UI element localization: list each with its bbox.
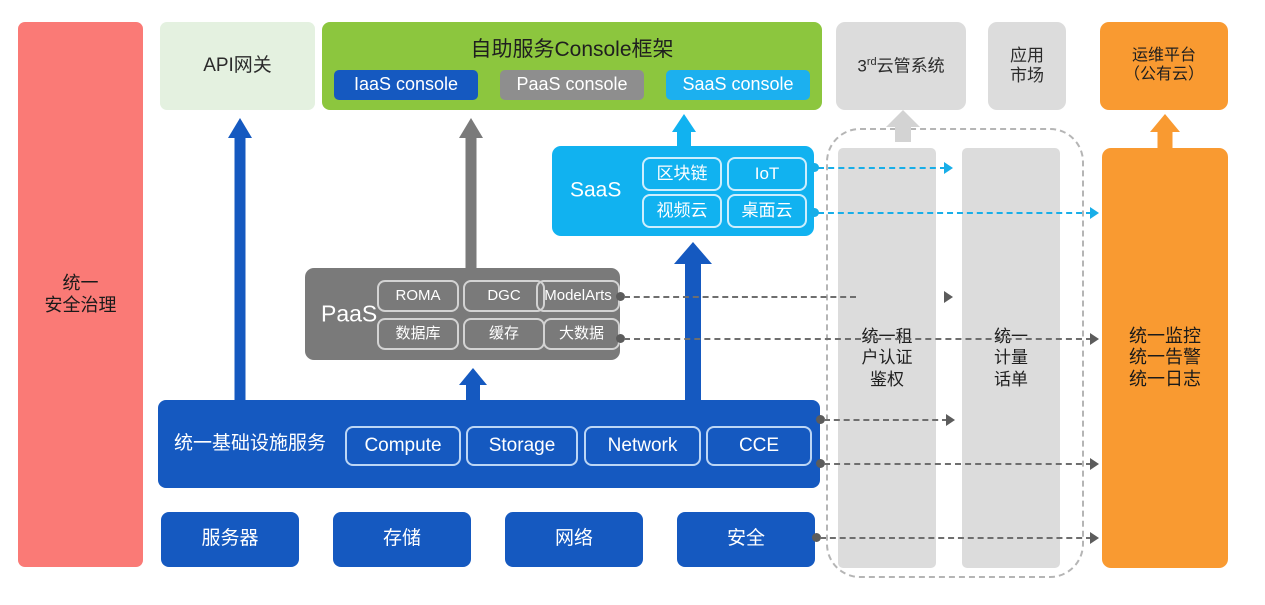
iaas-console-label: IaaS console — [354, 74, 458, 95]
infra-chip-network-label: Network — [608, 435, 678, 457]
ops-platform-top-label: 运维平台 （公有云） — [1124, 47, 1204, 85]
third-party-label: 3rd云管系统 — [857, 56, 944, 77]
resource-box-storage[interactable]: 存储 — [333, 512, 471, 567]
tenant-auth-line-1: 统一租 — [862, 326, 913, 347]
saas-label: SaaS — [570, 179, 621, 204]
paas-chip-dgc[interactable]: DGC — [463, 280, 545, 312]
dash-saas-to-tenant-auth — [818, 167, 946, 169]
tenant-auth-line-3: 鉴权 — [862, 369, 913, 390]
paas-block[interactable]: PaaS ROMA DGC ModelArts 数据库 缓存 大数据 — [305, 268, 620, 360]
resource-security-label: 安全 — [727, 528, 765, 550]
api-gateway-label: API网关 — [203, 55, 272, 77]
unified-metering-billing-label: 统一 计量 话单 — [994, 326, 1028, 390]
security-line-2: 安全治理 — [45, 295, 117, 316]
paas-chip-database[interactable]: 数据库 — [377, 318, 459, 350]
infra-chip-cce[interactable]: CCE — [706, 426, 812, 466]
saas-chip-video-cloud[interactable]: 视频云 — [642, 194, 722, 228]
unified-tenant-auth-column[interactable]: 统一租 户认证 鉴权 — [838, 148, 936, 568]
third-party-prefix: 3 — [857, 56, 866, 75]
arrow-ops-column-to-ops-platform — [1148, 114, 1182, 148]
unified-metering-billing-column[interactable]: 统一 计量 话单 — [962, 148, 1060, 568]
dash-arrow-saas-to-tenant-auth — [944, 162, 953, 174]
metering-line-1: 统一 — [994, 326, 1028, 347]
paas-chip-bigdata[interactable]: 大数据 — [543, 318, 620, 350]
paas-chip-cache[interactable]: 缓存 — [463, 318, 545, 350]
console-framework-title: 自助服务Console框架 — [322, 38, 822, 63]
saas-chip-desktop-cloud-label: 桌面云 — [742, 201, 793, 221]
infra-chip-storage[interactable]: Storage — [466, 426, 578, 466]
saas-chip-iot-label: IoT — [755, 164, 780, 184]
iaas-console-chip[interactable]: IaaS console — [334, 70, 478, 100]
arrow-shared-to-third-party — [886, 110, 920, 142]
infra-chip-storage-label: Storage — [489, 435, 556, 457]
paas-chip-roma[interactable]: ROMA — [377, 280, 459, 312]
paas-chip-bigdata-label: 大数据 — [559, 325, 604, 343]
dash-saas-to-ops — [818, 212, 1092, 214]
api-gateway-box[interactable]: API网关 — [160, 22, 315, 110]
saas-console-chip[interactable]: SaaS console — [666, 70, 810, 100]
saas-chip-desktop-cloud[interactable]: 桌面云 — [727, 194, 807, 228]
paas-chip-database-label: 数据库 — [395, 325, 440, 343]
third-party-cloud-mgmt-box[interactable]: 3rd云管系统 — [836, 22, 966, 110]
tenant-auth-line-2: 户认证 — [862, 347, 913, 368]
arrow-paas-to-console — [455, 118, 487, 270]
paas-chip-cache-label: 缓存 — [489, 325, 519, 343]
ops-platform-line-2: （公有云） — [1124, 66, 1204, 85]
arrow-saas-to-console — [668, 114, 700, 148]
dash-paas-to-ops — [624, 338, 1092, 340]
infra-chip-cce-label: CCE — [739, 435, 779, 457]
dash-resources-to-ops — [820, 537, 1092, 539]
metering-line-2: 计量 — [994, 347, 1028, 368]
paas-label: PaaS — [321, 300, 377, 327]
infra-chip-compute-label: Compute — [364, 435, 441, 457]
app-market-box[interactable]: 应用 市场 — [988, 22, 1066, 110]
arrow-infra-to-saas — [674, 242, 712, 402]
resource-network-label: 网络 — [555, 528, 593, 550]
security-governance-label: 统一 安全治理 — [45, 273, 117, 315]
dash-arrow-tenant-auth-to-metering — [944, 291, 953, 303]
paas-chip-dgc-label: DGC — [487, 287, 520, 305]
resource-box-server[interactable]: 服务器 — [161, 512, 299, 567]
arrow-infra-to-paas — [458, 368, 488, 402]
saas-console-label: SaaS console — [682, 74, 793, 95]
dash-arrow-resources-to-ops — [1090, 532, 1099, 544]
saas-chip-blockchain-label: 区块链 — [657, 164, 708, 184]
architecture-diagram: 统一 安全治理 API网关 自助服务Console框架 IaaS console… — [0, 0, 1265, 605]
ops-monitoring-column[interactable]: 统一监控 统一告警 统一日志 — [1102, 148, 1228, 568]
console-framework-box[interactable]: 自助服务Console框架 IaaS console PaaS console … — [322, 22, 822, 110]
paas-chip-modelarts-label: ModelArts — [544, 287, 612, 305]
infra-chip-network[interactable]: Network — [584, 426, 701, 466]
infra-chip-compute[interactable]: Compute — [345, 426, 461, 466]
ops-monitoring-label: 统一监控 统一告警 统一日志 — [1129, 326, 1201, 390]
unified-tenant-auth-label: 统一租 户认证 鉴权 — [862, 326, 913, 390]
unified-infrastructure-label: 统一基础设施服务 — [174, 433, 326, 455]
resource-storage-label: 存储 — [383, 528, 421, 550]
app-market-line-2: 市场 — [1010, 66, 1044, 86]
dash-infra-to-tenant-auth — [824, 419, 948, 421]
dash-arrow-infra-to-ops — [1090, 458, 1099, 470]
paas-chip-modelarts[interactable]: ModelArts — [536, 280, 620, 312]
paas-chip-roma-label: ROMA — [396, 287, 441, 305]
unified-infrastructure-bar[interactable]: 统一基础设施服务 Compute Storage Network CCE — [158, 400, 820, 488]
ops-col-line-3: 统一日志 — [1129, 369, 1201, 390]
app-market-line-1: 应用 — [1010, 46, 1044, 66]
dash-arrow-infra-to-tenant-auth — [946, 414, 955, 426]
third-party-rest: 云管系统 — [877, 56, 945, 75]
metering-line-3: 话单 — [994, 369, 1028, 390]
ops-platform-public-cloud-box[interactable]: 运维平台 （公有云） — [1100, 22, 1228, 110]
third-party-sup: rd — [867, 56, 877, 68]
security-governance-column[interactable]: 统一 安全治理 — [18, 22, 143, 567]
dash-arrow-paas-to-ops — [1090, 333, 1099, 345]
resource-box-security[interactable]: 安全 — [677, 512, 815, 567]
saas-chip-video-cloud-label: 视频云 — [657, 201, 708, 221]
app-market-label: 应用 市场 — [1010, 46, 1044, 86]
paas-console-chip[interactable]: PaaS console — [500, 70, 644, 100]
dash-arrow-saas-to-ops — [1090, 207, 1099, 219]
resource-box-network[interactable]: 网络 — [505, 512, 643, 567]
arrow-infra-to-api-gateway — [224, 118, 256, 402]
ops-col-line-1: 统一监控 — [1129, 326, 1201, 347]
saas-chip-blockchain[interactable]: 区块链 — [642, 157, 722, 191]
paas-console-label: PaaS console — [516, 74, 627, 95]
saas-chip-iot[interactable]: IoT — [727, 157, 807, 191]
saas-block[interactable]: SaaS 区块链 IoT 视频云 桌面云 — [552, 146, 814, 236]
ops-col-line-2: 统一告警 — [1129, 347, 1201, 368]
ops-platform-line-1: 运维平台 — [1124, 47, 1204, 66]
security-line-1: 统一 — [45, 273, 117, 294]
dash-infra-to-ops — [824, 463, 1092, 465]
resource-server-label: 服务器 — [201, 528, 258, 550]
dash-paas-to-tenant-auth — [624, 296, 856, 298]
